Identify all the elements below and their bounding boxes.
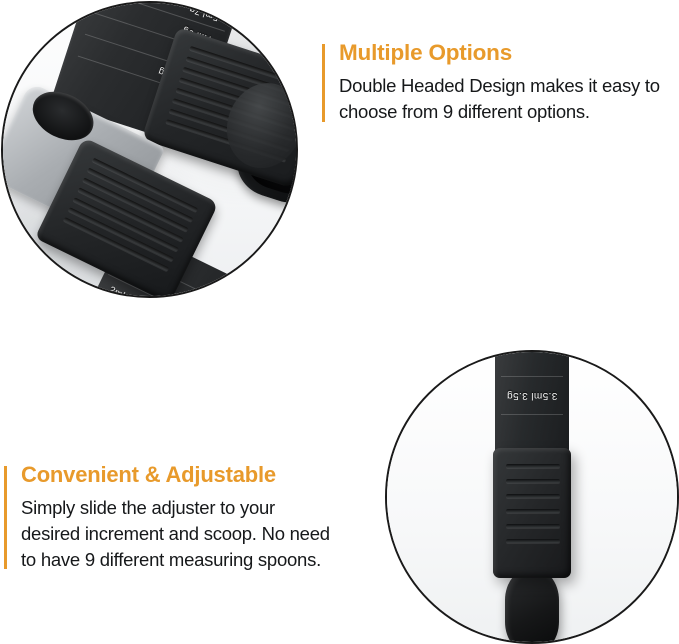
accent-bar: [322, 44, 325, 122]
slider-grip-ribs: [59, 158, 198, 281]
strap-groove: [501, 414, 563, 415]
photo-scene-adjusted-scoop: 3.5ml 3.5g: [387, 352, 677, 642]
scale-marking: 3.5ml 3.5g: [495, 390, 569, 401]
feature-body: Simply slide the adjuster to your desire…: [21, 495, 334, 574]
feature-heading: Multiple Options: [339, 40, 674, 66]
accent-bar: [4, 466, 7, 569]
adjuster-slider: [493, 448, 571, 578]
scale-strap: 3.5ml 3.5g: [495, 350, 569, 458]
slider-grip-ribs: [506, 464, 560, 564]
feature-block-multiple-options: Multiple Options Double Headed Design ma…: [322, 40, 674, 126]
feature-body: Double Headed Design makes it easy to ch…: [339, 73, 674, 126]
strap-groove: [501, 376, 563, 377]
feature-heading: Convenient & Adjustable: [21, 462, 334, 488]
scoop-bowl: [505, 568, 559, 644]
product-photo-top-left: 5ml 7g 7ml 9g 9ml 11g 11ml 13g 0.5ml 0.5…: [1, 1, 298, 298]
photo-scene-double-headed-spoon: 5ml 7g 7ml 9g 9ml 11g 11ml 13g 0.5ml 0.5…: [3, 3, 296, 296]
product-photo-bottom-right: 3.5ml 3.5g: [385, 350, 679, 644]
feature-block-convenient-adjustable: Convenient & Adjustable Simply slide the…: [4, 462, 334, 573]
